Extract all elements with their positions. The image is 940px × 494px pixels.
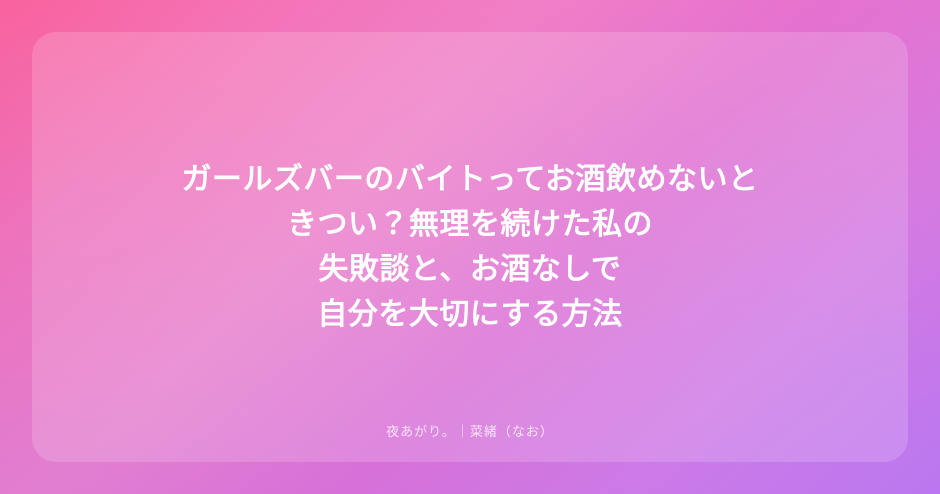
site-byline: 夜あがり。｜菜緒（なお） xyxy=(32,421,908,440)
title-card-canvas: ガールズバーのバイトってお酒飲めないと きつい？無理を続けた私の 失敗談と、お酒… xyxy=(0,0,940,494)
page-title: ガールズバーのバイトってお酒飲めないと きつい？無理を続けた私の 失敗談と、お酒… xyxy=(141,157,798,337)
title-line-1: ガールズバーのバイトってお酒飲めないと xyxy=(181,157,758,202)
title-line-3: 失敗談と、お酒なしで xyxy=(181,247,758,292)
title-card-panel: ガールズバーのバイトってお酒飲めないと きつい？無理を続けた私の 失敗談と、お酒… xyxy=(32,32,908,462)
title-line-2: きつい？無理を続けた私の xyxy=(181,202,758,247)
title-line-4: 自分を大切にする方法 xyxy=(181,292,758,337)
